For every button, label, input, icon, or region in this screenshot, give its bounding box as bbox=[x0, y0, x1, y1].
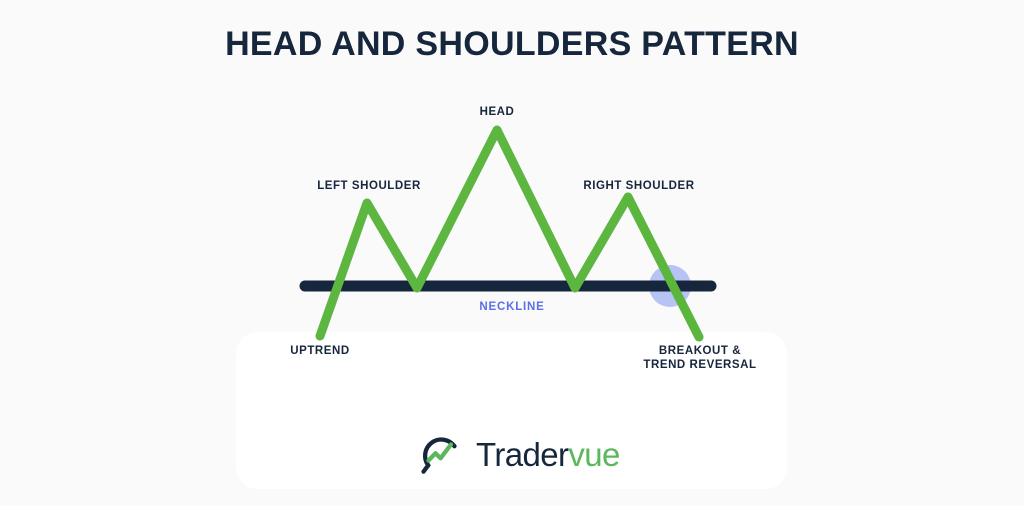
price-line-breakout-overlay bbox=[628, 197, 699, 337]
label-breakout-line-2: TREND REVERSAL bbox=[643, 358, 756, 372]
label-left-shoulder: LEFT SHOULDER bbox=[317, 179, 421, 193]
wordmark-trader: Trader bbox=[476, 436, 568, 473]
infographic-canvas: HEAD AND SHOULDERS PATTERN HEAD LEFT SHO… bbox=[0, 0, 1024, 506]
label-right-shoulder: RIGHT SHOULDER bbox=[583, 179, 694, 193]
label-head: HEAD bbox=[480, 105, 515, 119]
tradervue-wordmark: Tradervue bbox=[476, 437, 620, 473]
label-breakout-line-1: BREAKOUT & bbox=[643, 344, 756, 358]
breakout-marker-circle bbox=[649, 265, 691, 307]
magnifier-uptrend-icon bbox=[414, 429, 466, 481]
label-neckline: NECKLINE bbox=[479, 301, 544, 313]
page-title: HEAD AND SHOULDERS PATTERN bbox=[0, 22, 1024, 66]
wordmark-vue: vue bbox=[568, 436, 619, 473]
label-uptrend: UPTREND bbox=[290, 344, 349, 358]
label-breakout: BREAKOUT & TREND REVERSAL bbox=[643, 344, 756, 372]
tradervue-logo: Tradervue bbox=[414, 425, 614, 485]
